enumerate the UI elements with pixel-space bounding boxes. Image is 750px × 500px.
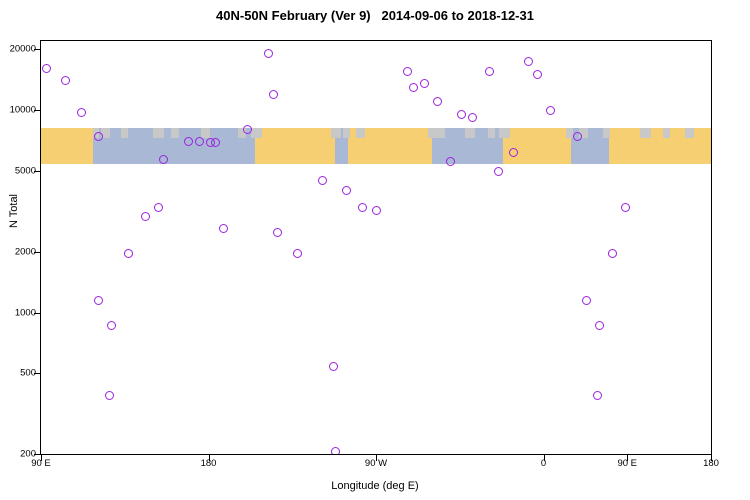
scatter-point: [264, 49, 273, 58]
scatter-point: [573, 132, 582, 141]
scatter-point: [154, 203, 163, 212]
scatter-point: [273, 228, 282, 237]
scatter-point: [593, 391, 602, 400]
scatter-point: [42, 64, 51, 73]
land-segment: [609, 128, 711, 165]
y-axis-label: N Total: [8, 101, 20, 321]
scatter-point: [582, 296, 591, 305]
scatter-point: [533, 70, 542, 79]
scatter-point: [124, 249, 133, 258]
scatter-point: [77, 108, 86, 117]
map-overlay-band: [41, 128, 711, 165]
scatter-point: [433, 97, 442, 106]
y-tick-label: 2000: [15, 246, 36, 257]
coastline-chip: [331, 128, 340, 138]
y-tick-label: 5000: [15, 166, 36, 177]
scatter-point: [372, 206, 381, 215]
coastline-chip: [603, 128, 610, 138]
coastline-chip: [171, 128, 178, 138]
coastline-chip: [201, 128, 210, 138]
land-segment: [255, 128, 335, 165]
x-tick-mark: [627, 455, 628, 461]
scatter-point: [141, 212, 150, 221]
scatter-point: [608, 249, 617, 258]
scatter-point: [94, 296, 103, 305]
x-tick-mark: [209, 455, 210, 461]
coastline-chip: [251, 128, 262, 138]
coastline-chip: [663, 128, 670, 138]
coastline-chip: [153, 128, 164, 138]
scatter-point: [485, 67, 494, 76]
scatter-point: [184, 137, 193, 146]
scatter-point: [331, 447, 340, 455]
scatter-point: [329, 362, 338, 371]
scatter-point: [509, 148, 518, 157]
coastline-chip: [640, 128, 651, 138]
coastline-chip: [488, 128, 495, 138]
scatter-point: [595, 321, 604, 330]
scatter-point: [105, 391, 114, 400]
scatter-point: [621, 203, 630, 212]
scatter-point: [318, 176, 327, 185]
scatter-point: [293, 249, 302, 258]
coastline-chip: [356, 128, 365, 138]
scatter-point: [195, 137, 204, 146]
x-tick-mark: [41, 455, 42, 461]
scatter-point: [494, 167, 503, 176]
x-axis-label: Longitude (deg E): [0, 480, 750, 492]
scatter-point: [446, 157, 455, 166]
scatter-point: [546, 106, 555, 115]
y-tick-label: 1000: [15, 307, 36, 318]
scatter-point: [457, 110, 466, 119]
scatter-point: [61, 76, 70, 85]
x-tick-mark: [711, 455, 712, 461]
scatter-point: [107, 321, 116, 330]
coastline-chip: [685, 128, 694, 138]
scatter-point: [342, 186, 351, 195]
x-tick-mark: [376, 455, 377, 461]
plot-area: Land (Nadir&Glint) and Ocean (Glint): [40, 40, 712, 455]
scatter-point: [358, 203, 367, 212]
scatter-point: [269, 90, 278, 99]
scatter-point: [420, 79, 429, 88]
x-tick-mark: [544, 455, 545, 461]
coastline-chip: [499, 128, 510, 138]
coastline-chip: [465, 128, 474, 138]
land-segment: [503, 128, 572, 165]
scatter-point: [403, 67, 412, 76]
chart-title: 40N-50N February (Ver 9) 2014-09-06 to 2…: [0, 8, 750, 23]
scatter-point: [468, 113, 477, 122]
scatter-point: [524, 57, 533, 66]
coastline-chip: [437, 128, 444, 138]
y-tick-label: 10000: [10, 105, 36, 116]
y-tick-label: 20000: [10, 44, 36, 55]
scatter-point: [409, 83, 418, 92]
land-segment: [41, 128, 93, 165]
chart-root: 40N-50N February (Ver 9) 2014-09-06 to 2…: [0, 0, 750, 500]
coastline-chip: [121, 128, 128, 138]
scatter-point: [219, 224, 228, 233]
coastline-chip: [343, 128, 350, 138]
